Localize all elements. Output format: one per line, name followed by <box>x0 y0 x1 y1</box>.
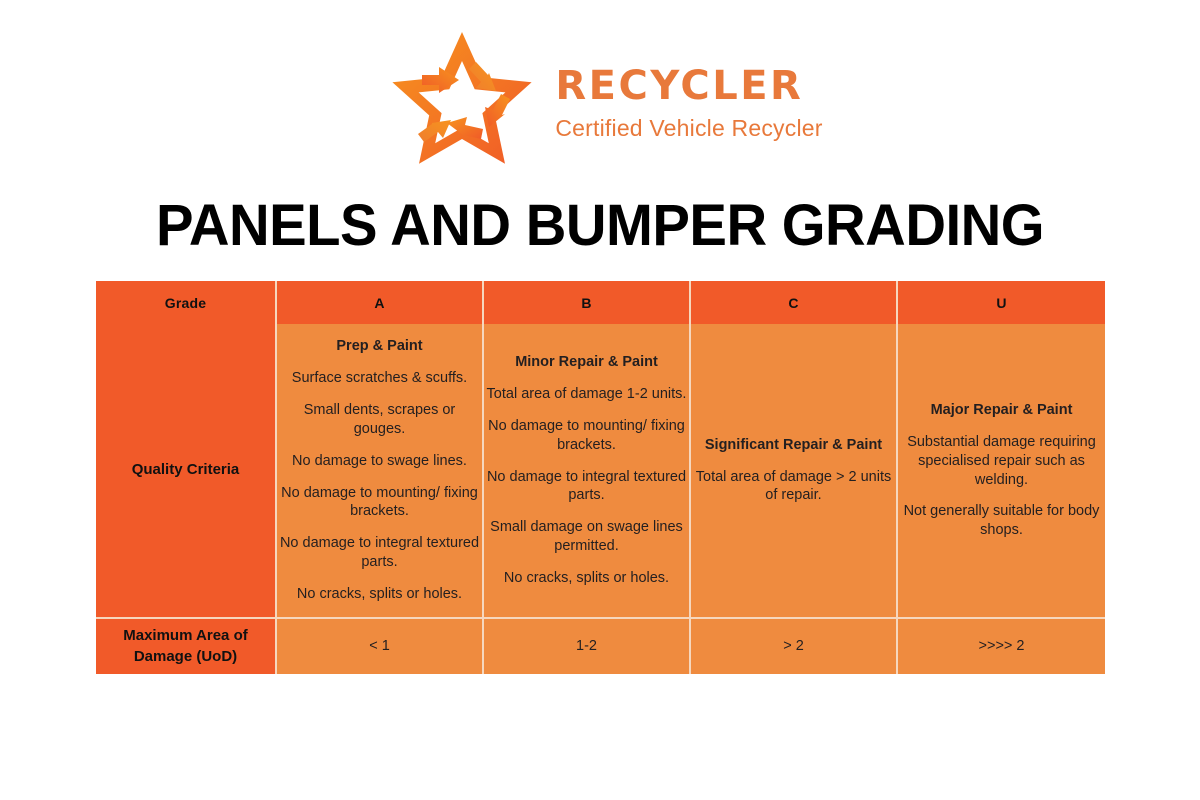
criteria-cell-grade-u: Major Repair & Paint Substantial damage … <box>898 324 1105 619</box>
criteria-line: No damage to mounting/ fixing brackets. <box>277 484 482 522</box>
criteria-line: Small damage on swage lines permitted. <box>484 518 689 556</box>
criteria-cell-grade-c: Significant Repair & Paint Total area of… <box>691 324 898 619</box>
table-row-quality-criteria: Quality Criteria Prep & Paint Surface sc… <box>96 324 1105 619</box>
criteria-cell-grade-a: Prep & Paint Surface scratches & scuffs.… <box>277 324 484 619</box>
criteria-line: No damage to swage lines. <box>277 452 482 471</box>
criteria-line: No cracks, splits or holes. <box>484 569 689 588</box>
page-title: PANELS AND BUMPER GRADING <box>18 192 1182 259</box>
criteria-line: Total area of damage > 2 units of repair… <box>691 468 896 506</box>
criteria-heading-u: Major Repair & Paint <box>898 401 1105 420</box>
brand-logo: RECYCLER Certified Vehicle Recycler <box>0 28 1200 180</box>
criteria-heading-b: Minor Repair & Paint <box>484 353 689 372</box>
criteria-line: No damage to integral textured parts. <box>484 468 689 506</box>
panels-bumper-grading-table: Grade A B C U Quality Criteria Prep & Pa… <box>96 281 1105 674</box>
criteria-line: Not generally suitable for body shops. <box>898 502 1105 540</box>
logo-text-group: RECYCLER Certified Vehicle Recycler <box>555 66 822 142</box>
table-header-row: Grade A B C U <box>96 281 1105 324</box>
row-label-quality-criteria: Quality Criteria <box>96 324 277 619</box>
uod-value-grade-u: >>>> 2 <box>898 619 1105 674</box>
header-grade-b: B <box>484 281 691 324</box>
header-grade-label: Grade <box>96 281 277 324</box>
logo-tagline: Certified Vehicle Recycler <box>555 116 822 140</box>
criteria-line: Surface scratches & scuffs. <box>277 369 482 388</box>
table-row-max-area-damage: Maximum Area of Damage (UoD) < 1 1-2 > 2… <box>96 619 1105 674</box>
header-grade-u: U <box>898 281 1105 324</box>
criteria-line: No damage to mounting/ fixing brackets. <box>484 417 689 455</box>
header-grade-a: A <box>277 281 484 324</box>
criteria-line: No cracks, splits or holes. <box>277 585 482 604</box>
logo-wordmark: RECYCLER <box>555 66 822 106</box>
uod-value-grade-c: > 2 <box>691 619 898 674</box>
header-grade-c: C <box>691 281 898 324</box>
criteria-cell-grade-b: Minor Repair & Paint Total area of damag… <box>484 324 691 619</box>
row-label-max-area-damage: Maximum Area of Damage (UoD) <box>96 619 277 674</box>
criteria-line: Small dents, scrapes or gouges. <box>277 401 482 439</box>
criteria-line: Total area of damage 1-2 units. <box>484 385 689 404</box>
recycling-star-icon <box>377 28 547 180</box>
uod-value-grade-b: 1-2 <box>484 619 691 674</box>
criteria-heading-a: Prep & Paint <box>277 337 482 356</box>
criteria-line: No damage to integral textured parts. <box>277 534 482 572</box>
uod-value-grade-a: < 1 <box>277 619 484 674</box>
criteria-line: Substantial damage requiring specialised… <box>898 433 1105 490</box>
criteria-heading-c: Significant Repair & Paint <box>691 436 896 455</box>
